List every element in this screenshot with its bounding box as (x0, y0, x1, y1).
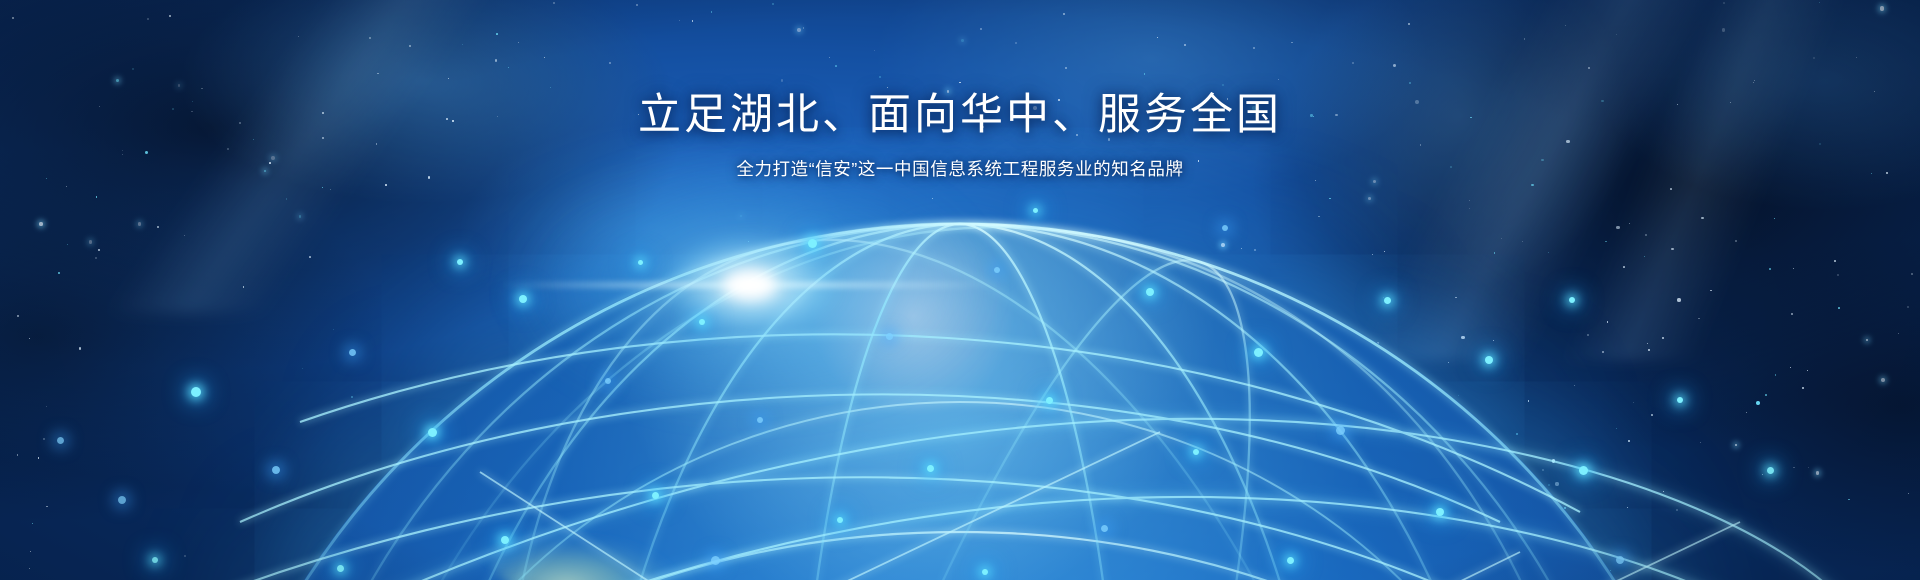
page-title: 立足湖北、面向华中、服务全国 (0, 0, 1920, 140)
hero-banner: 立足湖北、面向华中、服务全国 全力打造“信安”这一中国信息系统工程服务业的知名品… (0, 0, 1920, 580)
banner-copy: 立足湖北、面向华中、服务全国 全力打造“信安”这一中国信息系统工程服务业的知名品… (0, 0, 1920, 182)
page-subtitle: 全力打造“信安”这一中国信息系统工程服务业的知名品牌 (0, 140, 1920, 182)
